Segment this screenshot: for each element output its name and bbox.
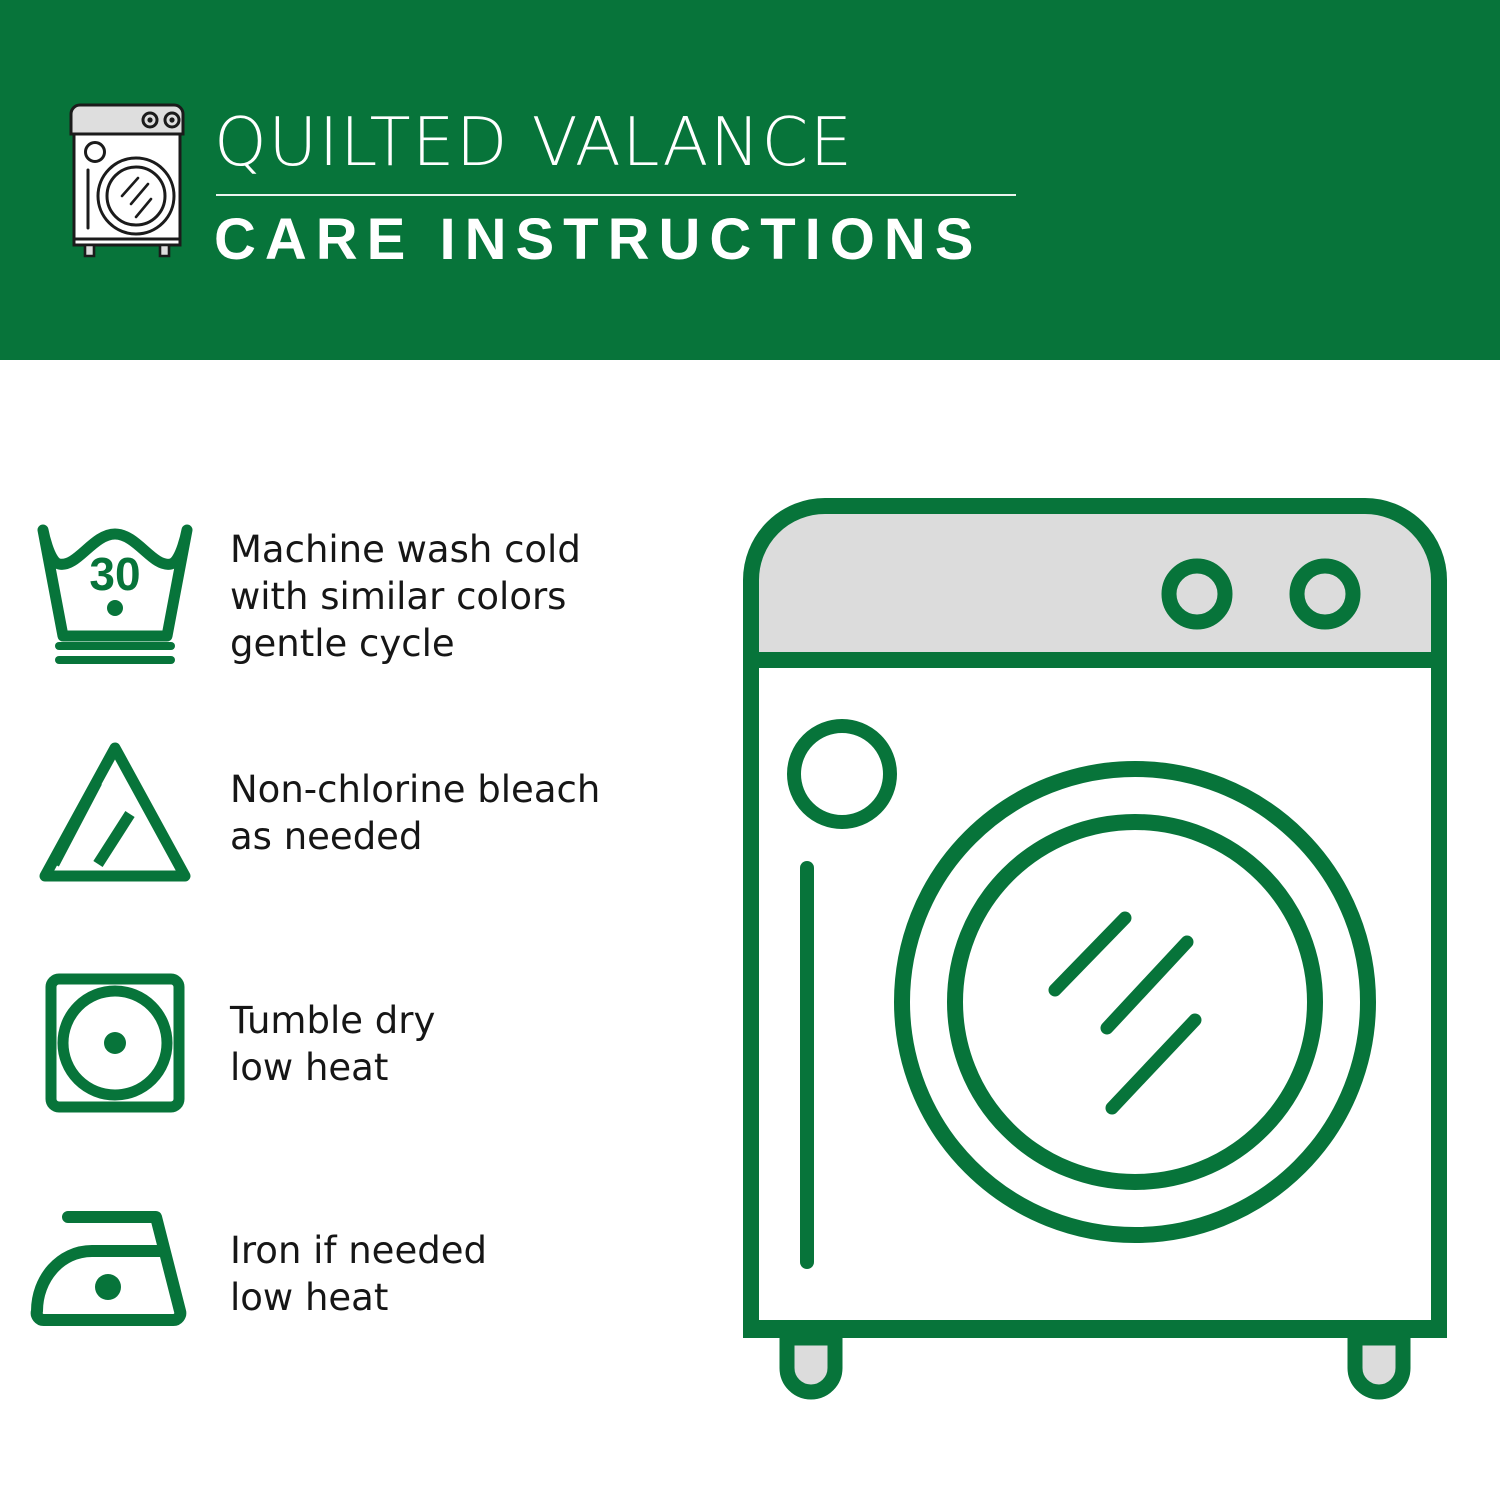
care-icon-bleach-wrap [0,738,230,886]
gentle-bar-2 [55,656,175,664]
control-panel [751,502,1439,662]
header-titles: QUILTED VALANCE CARE INSTRUCTIONS [214,98,1016,272]
care-row-iron: Iron if needed low heat [0,1205,700,1333]
gentle-dot [107,600,123,616]
door-shine-line-3 [1112,1020,1195,1108]
tumble-dry-low-icon [44,972,186,1114]
iron-low-heat-icon [30,1205,200,1333]
leg-right [1355,1338,1403,1392]
leg-left [787,1338,835,1392]
care-row-bleach: Non-chlorine bleach as needed [0,738,700,886]
care-row-tumble-dry: Tumble dry low heat [0,972,700,1114]
bleach-triangle [45,748,185,876]
wash-temperature-value: 30 [89,548,140,600]
dry-low-heat-dot [104,1032,126,1054]
front-load-washing-machine-illustration [735,490,1455,1420]
door-shine-line-1 [1055,918,1125,990]
header-banner: QUILTED VALANCE CARE INSTRUCTIONS [0,0,1500,360]
iron-low-heat-dot [95,1274,121,1300]
door-shine-line-2 [1107,942,1187,1028]
bleach-stripe-2 [98,814,130,864]
care-instruction-list: 30 Machine wash cold with similar colors… [0,360,700,1500]
care-label-bleach: Non-chlorine bleach as needed [230,738,600,860]
care-icon-wash-wrap: 30 [0,518,230,664]
detergent-dispenser[interactable] [794,726,890,822]
care-icon-dry-wrap [0,972,230,1114]
care-label-dry: Tumble dry low heat [230,972,435,1091]
gentle-bar-1 [55,642,175,650]
non-chlorine-bleach-triangle-icon [35,738,195,886]
iron-body [37,1217,181,1320]
care-label-wash: Machine wash cold with similar colors ge… [230,518,581,667]
care-icon-iron-wrap [0,1205,230,1333]
care-row-wash: 30 Machine wash cold with similar colors… [0,518,700,667]
washing-machine-icon [62,98,192,263]
machine-base [743,1320,1447,1338]
page-title: QUILTED VALANCE [214,104,1016,180]
wash-tub-30-icon: 30 [33,518,197,664]
care-label-iron: Iron if needed low heat [230,1205,487,1321]
page-subtitle: CARE INSTRUCTIONS [214,208,1016,272]
header-content: QUILTED VALANCE CARE INSTRUCTIONS [62,98,1016,272]
bleach-stripe-1 [54,782,97,864]
title-divider [216,194,1016,196]
